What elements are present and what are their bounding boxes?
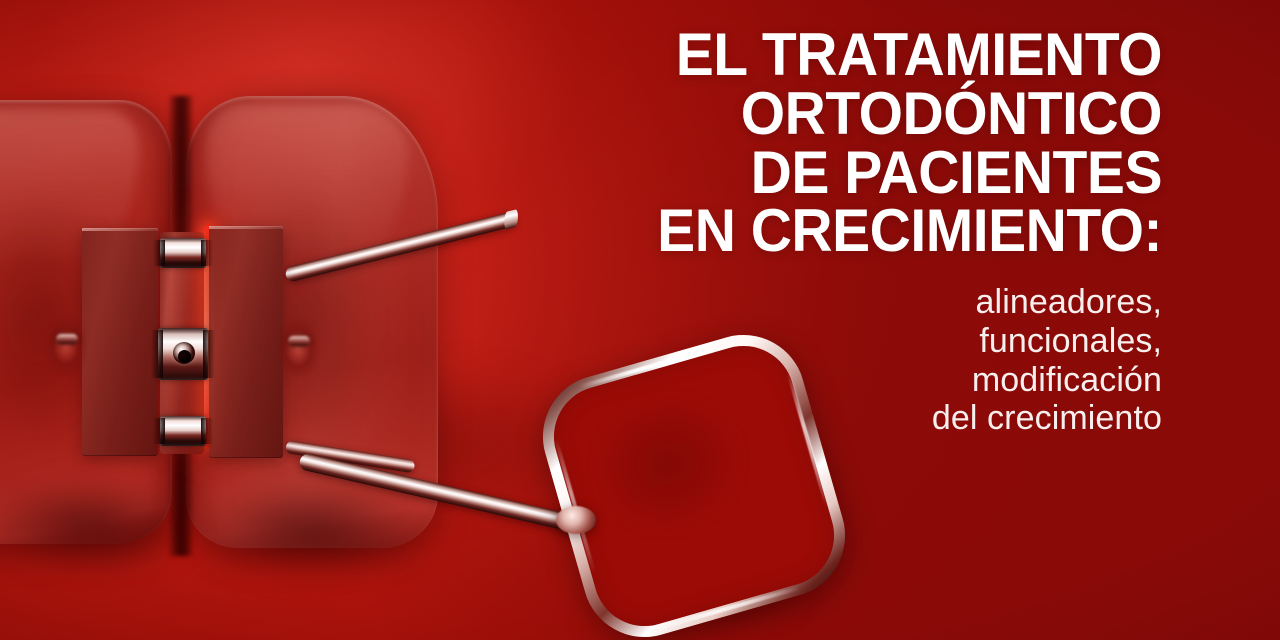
page-subtitle: alineadores, funcionales, modificación d… — [502, 283, 1162, 438]
banner-text-block: EL TRATAMIENTO ORTODÓNTICO DE PACIENTES … — [502, 26, 1162, 438]
headline-line-3: DE PACIENTES — [535, 144, 1162, 203]
promo-banner: EL TRATAMIENTO ORTODÓNTICO DE PACIENTES … — [0, 0, 1280, 640]
headline-line-4: EN CRECIMIENTO: — [535, 202, 1162, 261]
subtitle-line-3: modificación — [502, 361, 1162, 400]
subtitle-line-1: alineadores, — [502, 283, 1162, 322]
page-title: EL TRATAMIENTO ORTODÓNTICO DE PACIENTES … — [535, 26, 1162, 261]
subtitle-line-2: funcionales, — [502, 322, 1162, 361]
headline-line-2: ORTODÓNTICO — [535, 85, 1162, 144]
headline-line-1: EL TRATAMIENTO — [535, 26, 1162, 85]
subtitle-line-4: del crecimiento — [502, 399, 1162, 438]
